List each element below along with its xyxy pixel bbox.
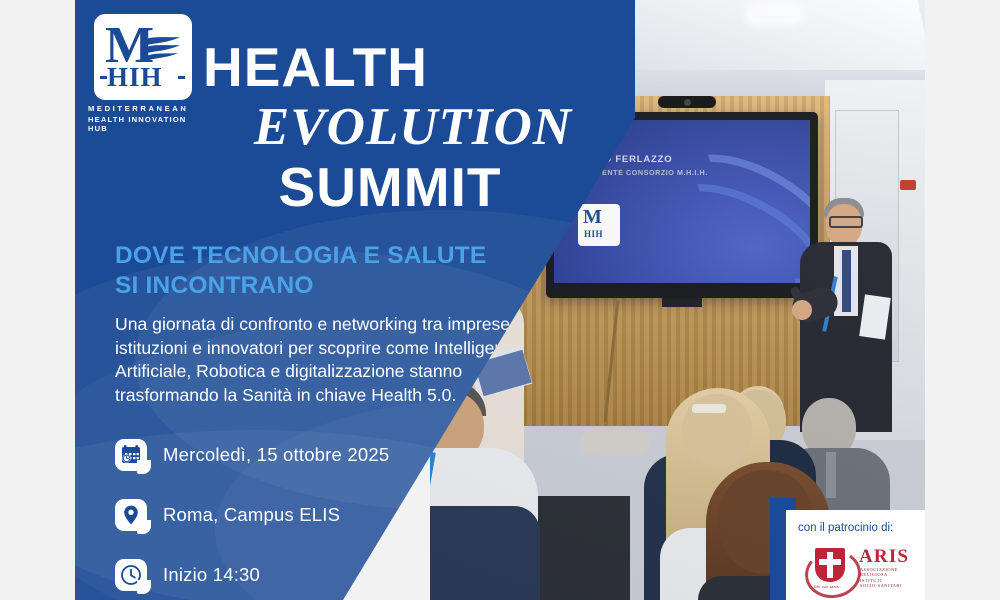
detail-label-location: Roma, Campus ELIS	[163, 504, 340, 526]
aris-logo: · Sibi non sanis · ARIS ASSOCIAZIONE REL…	[797, 544, 915, 592]
detail-row-time: Inizio 14:30	[115, 552, 389, 598]
title-line-health: HEALTH	[203, 38, 633, 96]
subtitle-line-2: SI INCONTRANO	[115, 271, 575, 301]
patronage-box: con il patrocinio di: · Sibi non sanis ·…	[786, 510, 925, 600]
aris-subtitle: ASSOCIAZIONE RELIGIOSA ISTITUTI SOCIO-SA…	[860, 567, 902, 589]
logo-acronym: HIH	[107, 62, 163, 93]
aris-shield	[815, 548, 845, 582]
logo-wordmark: MEDITERRANEAN HEALTH INNOVATION HUB	[88, 104, 208, 133]
detail-label-date: Mercoledì, 15 ottobre 2025	[163, 444, 389, 466]
title-line-summit: SUMMIT	[203, 158, 633, 216]
logo-serif-bar-left	[100, 76, 107, 79]
detail-label-time: Inizio 14:30	[163, 564, 260, 586]
subtitle: DOVE TECNOLOGIA E SALUTE SI INCONTRANO	[115, 241, 575, 301]
event-poster: MARCO FERLAZZO PRESIDENTE CONSORZIO M.H.…	[0, 0, 1000, 600]
event-details: Mercoledì, 15 ottobre 2025 Roma, Campus …	[115, 432, 389, 600]
logo-serif-bar-right	[178, 76, 185, 79]
detail-row-date: Mercoledì, 15 ottobre 2025	[115, 432, 389, 478]
page-title: HEALTH EVOLUTION SUMMIT	[203, 38, 633, 216]
aris-wordmark: ARIS	[859, 546, 909, 568]
logo-wordmark-line1: MEDITERRANEAN	[88, 104, 208, 113]
logo-wordmark-line2: HEALTH INNOVATION HUB	[88, 115, 208, 133]
detail-row-location: Roma, Campus ELIS	[115, 492, 389, 538]
location-pin-icon	[115, 499, 147, 531]
patronage-heading: con il patrocinio di:	[798, 522, 893, 534]
aris-motto: · Sibi non sanis ·	[811, 585, 842, 589]
clock-icon	[115, 559, 147, 591]
cross-horizontal	[819, 559, 841, 565]
mhih-logo-card: M HIH	[94, 14, 192, 100]
calendar-icon	[115, 439, 147, 471]
title-line-evolution: EVOLUTION	[203, 96, 633, 158]
aris-subtitle-line-4: SOCIO-SANITARI	[860, 583, 902, 588]
subtitle-line-1: DOVE TECNOLOGIA E SALUTE	[115, 241, 575, 271]
cross-vertical	[827, 552, 833, 578]
logo-wave-icon	[138, 34, 182, 64]
